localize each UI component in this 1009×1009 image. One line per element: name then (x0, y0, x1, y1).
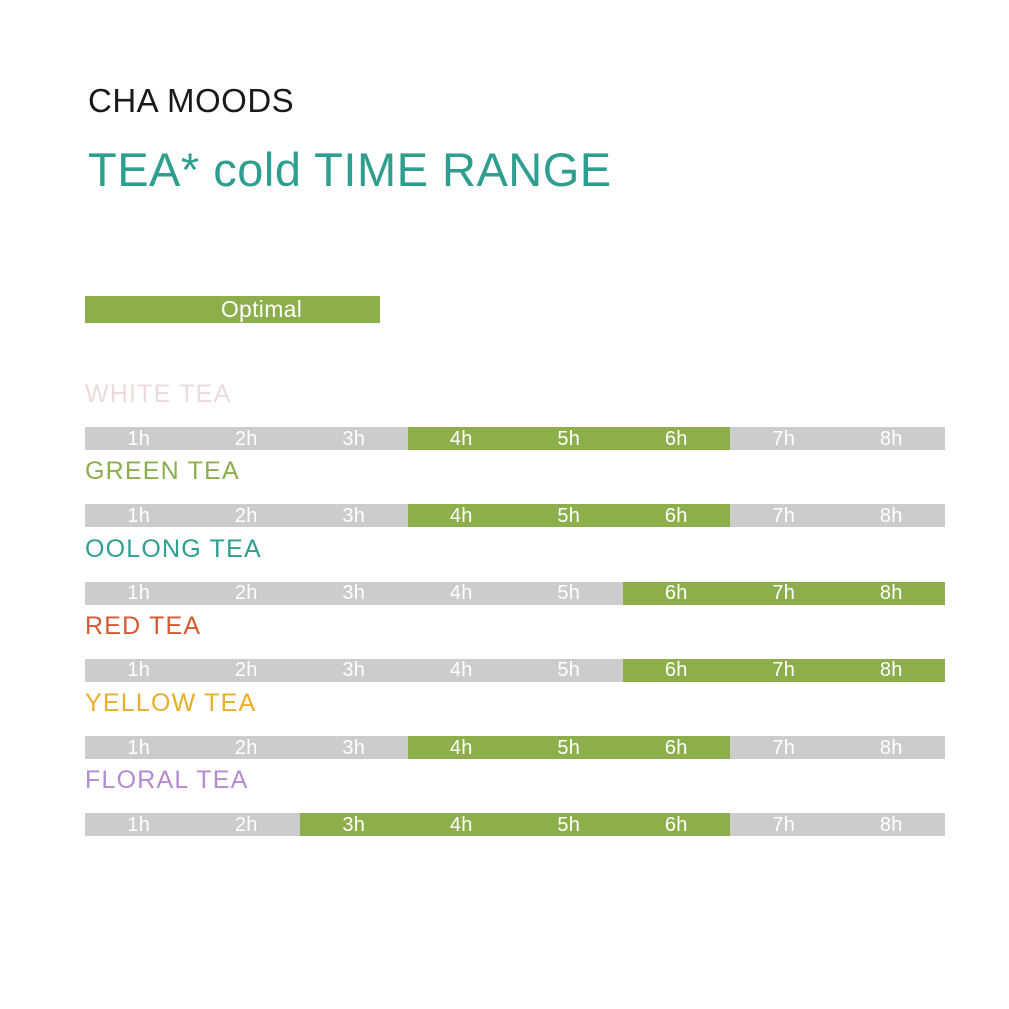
hour-tick: 1h (85, 582, 193, 605)
hour-tick: 4h (408, 427, 516, 450)
hour-tick: 3h (300, 736, 408, 759)
hour-tick: 7h (730, 427, 838, 450)
hour-tick: 2h (193, 813, 301, 836)
hour-tick: 2h (193, 659, 301, 682)
hour-tick: 4h (408, 504, 516, 527)
tea-row: YELLOW TEA1h2h3h4h5h6h7h8h (85, 691, 945, 768)
hour-tick: 8h (838, 813, 946, 836)
hour-tick: 5h (515, 813, 623, 836)
hour-tick: 8h (838, 582, 946, 605)
hour-tick-labels: 1h2h3h4h5h6h7h8h (85, 736, 945, 759)
hour-tick: 3h (300, 504, 408, 527)
legend-optimal: Optimal (85, 296, 380, 323)
tea-row: WHITE TEA1h2h3h4h5h6h7h8h (85, 382, 945, 459)
tea-row-label: WHITE TEA (85, 382, 231, 407)
hour-tick: 6h (623, 659, 731, 682)
hour-tick: 5h (515, 427, 623, 450)
hour-tick-labels: 1h2h3h4h5h6h7h8h (85, 813, 945, 836)
legend-label: Optimal (163, 298, 302, 321)
hour-tick: 8h (838, 659, 946, 682)
hour-tick: 3h (300, 813, 408, 836)
hour-tick: 8h (838, 427, 946, 450)
hour-tick: 6h (623, 813, 731, 836)
hour-tick: 6h (623, 427, 731, 450)
hour-tick: 8h (838, 736, 946, 759)
tea-row: GREEN TEA1h2h3h4h5h6h7h8h (85, 459, 945, 536)
hour-tick: 2h (193, 736, 301, 759)
hour-tick: 7h (730, 582, 838, 605)
tea-row: OOLONG TEA1h2h3h4h5h6h7h8h (85, 537, 945, 614)
hour-tick: 6h (623, 736, 731, 759)
brand-title: CHA MOODS (88, 82, 294, 120)
tea-row-label: YELLOW TEA (85, 691, 256, 716)
tea-row-label: GREEN TEA (85, 459, 240, 484)
tea-row: FLORAL TEA1h2h3h4h5h6h7h8h (85, 768, 945, 845)
hour-tick-labels: 1h2h3h4h5h6h7h8h (85, 427, 945, 450)
hour-tick: 1h (85, 813, 193, 836)
hour-tick: 7h (730, 813, 838, 836)
tea-row: RED TEA1h2h3h4h5h6h7h8h (85, 614, 945, 691)
hour-tick: 5h (515, 582, 623, 605)
tea-rows: WHITE TEA1h2h3h4h5h6h7h8hGREEN TEA1h2h3h… (85, 382, 945, 846)
hour-tick: 3h (300, 659, 408, 682)
hour-tick: 1h (85, 504, 193, 527)
hour-tick: 4h (408, 582, 516, 605)
hour-tick: 5h (515, 736, 623, 759)
hour-tick: 1h (85, 427, 193, 450)
infographic-page: CHA MOODS TEA* cold TIME RANGE Optimal W… (0, 0, 1009, 1009)
hour-tick: 2h (193, 582, 301, 605)
hour-tick: 2h (193, 504, 301, 527)
hour-tick: 4h (408, 813, 516, 836)
hour-tick: 1h (85, 736, 193, 759)
hour-tick: 8h (838, 504, 946, 527)
tea-row-label: FLORAL TEA (85, 768, 248, 793)
hour-tick: 6h (623, 582, 731, 605)
hour-tick-labels: 1h2h3h4h5h6h7h8h (85, 504, 945, 527)
hour-tick: 6h (623, 504, 731, 527)
hour-tick: 2h (193, 427, 301, 450)
hour-tick: 7h (730, 659, 838, 682)
hour-tick-labels: 1h2h3h4h5h6h7h8h (85, 659, 945, 682)
tea-row-label: RED TEA (85, 614, 201, 639)
hour-tick: 3h (300, 427, 408, 450)
tea-row-label: OOLONG TEA (85, 537, 262, 562)
hour-tick: 7h (730, 736, 838, 759)
hour-tick-labels: 1h2h3h4h5h6h7h8h (85, 582, 945, 605)
hour-tick: 4h (408, 659, 516, 682)
hour-tick: 5h (515, 504, 623, 527)
hour-tick: 3h (300, 582, 408, 605)
page-title: TEA* cold TIME RANGE (88, 142, 612, 197)
hour-tick: 5h (515, 659, 623, 682)
hour-tick: 4h (408, 736, 516, 759)
hour-tick: 7h (730, 504, 838, 527)
hour-tick: 1h (85, 659, 193, 682)
